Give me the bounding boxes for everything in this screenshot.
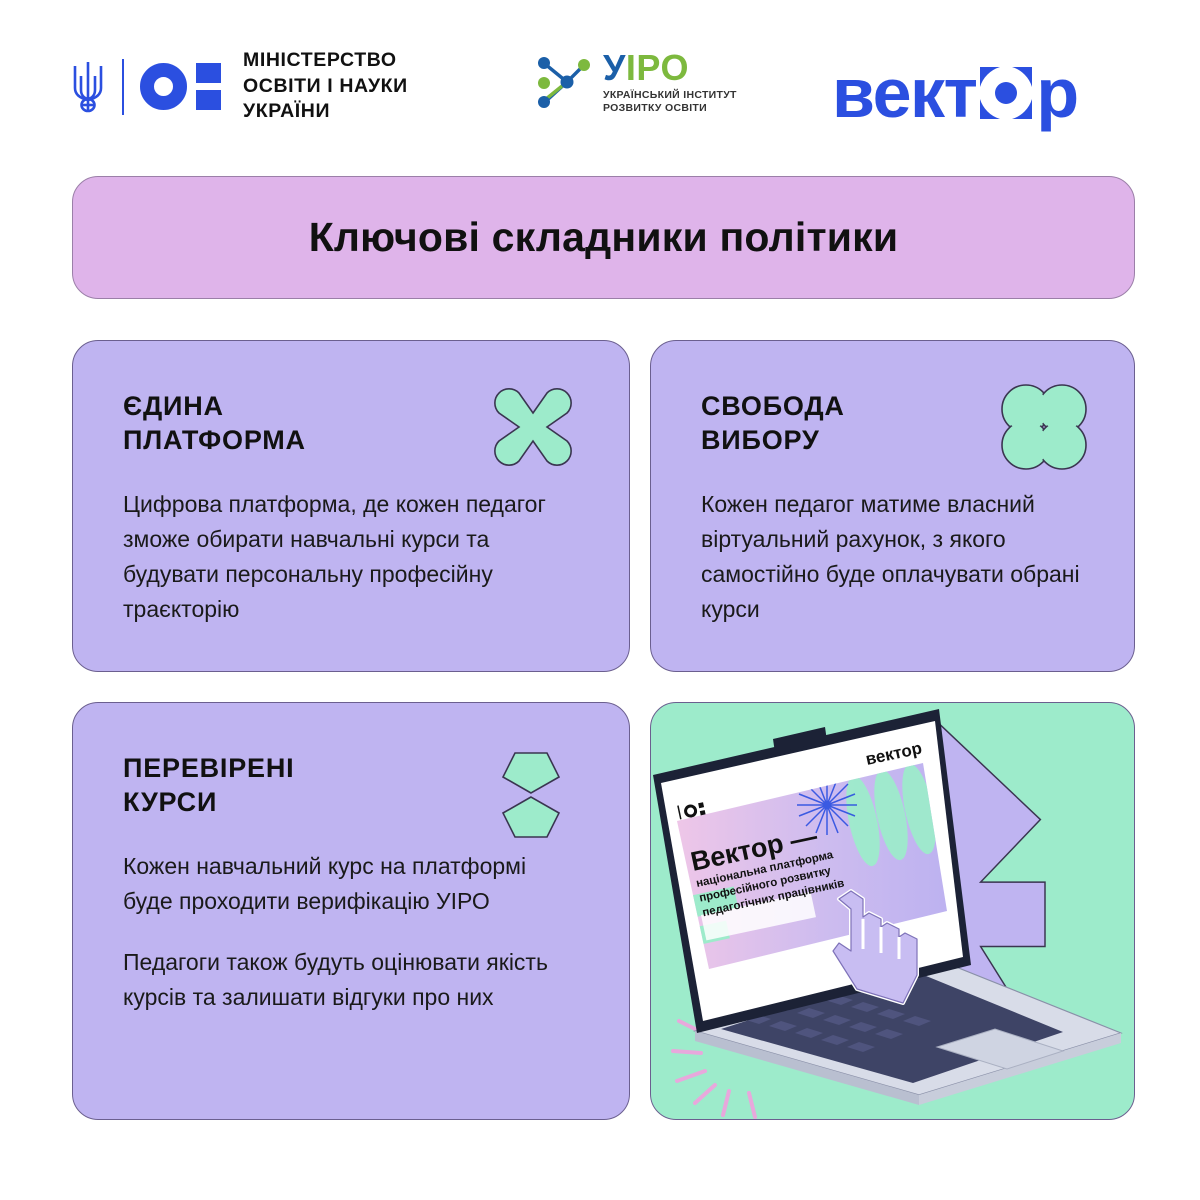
vektor-aperture-o-icon [974,61,1038,125]
card-paragraph: Кожен педагог матиме власний віртуальний… [701,487,1084,627]
card-paragraph: Педагоги також будуть оцінювати якість к… [123,945,579,1015]
card-paragraph: Кожен навчальний курс на платформі буде … [123,849,579,919]
page-title: Ключові складники політики [309,214,899,261]
card-title: ПЕРЕВІРЕНІ КУРСИ [123,751,579,819]
logo-divider [122,59,124,115]
vektor-word-part-two: р [1036,58,1077,128]
ministry-logo-text: МІНІСТЕРСТВО ОСВІТИ І НАУКИ УКРАЇНИ [243,48,408,125]
header: МІНІСТЕРСТВО ОСВІТИ І НАУКИ УКРАЇНИ УІРО… [0,0,1200,165]
uiro-logo: УІРО УКРАЇНСЬКИЙ ІНСТИТУТ РОЗВИТКУ ОСВІТ… [533,50,737,116]
uiro-wordmark: УІРО [603,50,737,86]
ministry-logo: МІНІСТЕРСТВО ОСВІТИ І НАУКИ УКРАЇНИ [70,48,408,125]
card-edyna-platforma: ЄДИНА ПЛАТФОРМА Цифрова платформа, де ко… [72,340,630,672]
uiro-word-rest: ІРО [626,47,689,88]
card-svoboda-vyboru: СВОБОДА ВИБОРУ Кожен педагог матиме влас… [650,340,1135,672]
uiro-network-nodes-icon [533,52,595,114]
card-paragraph: Цифрова платформа, де кожен педагог змож… [123,487,579,627]
vektor-word-part-one: вект [832,58,976,128]
card-perevireni-kursy: ПЕРЕВІРЕНІ КУРСИ Кожен навчальний курс н… [72,702,630,1120]
uiro-subtitle: УКРАЇНСЬКИЙ ІНСТИТУТ РОЗВИТКУ ОСВІТИ [603,89,737,116]
mon-ring-bars-icon [140,63,221,110]
mon-ring-icon [140,63,187,110]
vektor-logo: вект р [832,58,1078,128]
mon-bars-icon [196,63,221,110]
trident-emblem-icon [70,58,106,116]
card-title: СВОБОДА ВИБОРУ [701,389,1084,457]
laptop-illustration-panel: вектор [650,702,1135,1120]
title-banner: Ключові складники політики [72,176,1135,299]
card-title: ЄДИНА ПЛАТФОРМА [123,389,579,457]
uiro-word-first: У [603,47,626,88]
laptop-scene: вектор [651,703,1135,1120]
